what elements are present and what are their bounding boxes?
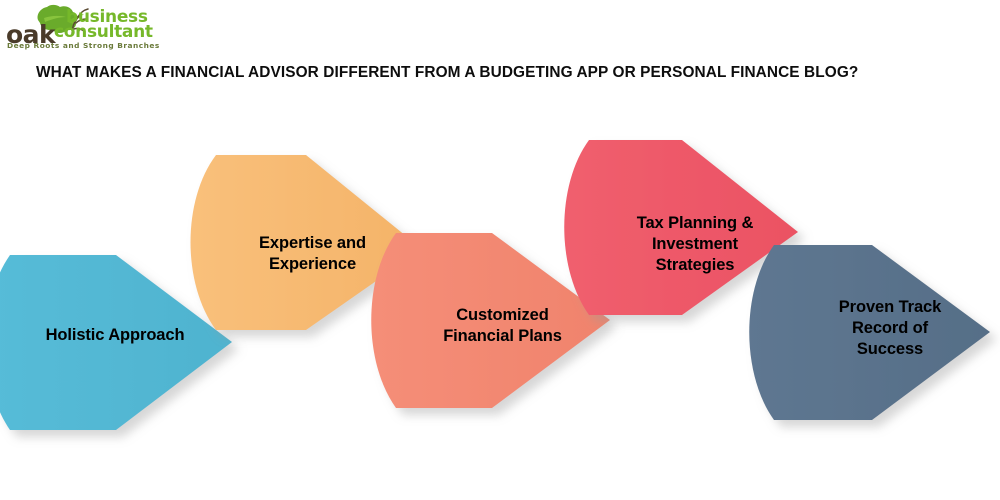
chevron-step-5[interactable]: [749, 245, 990, 420]
chevron-body-5[interactable]: [749, 245, 990, 420]
chevron-flow-diagram: [0, 0, 1000, 500]
infographic-canvas: business oak consultant Deep Roots and S…: [0, 0, 1000, 500]
